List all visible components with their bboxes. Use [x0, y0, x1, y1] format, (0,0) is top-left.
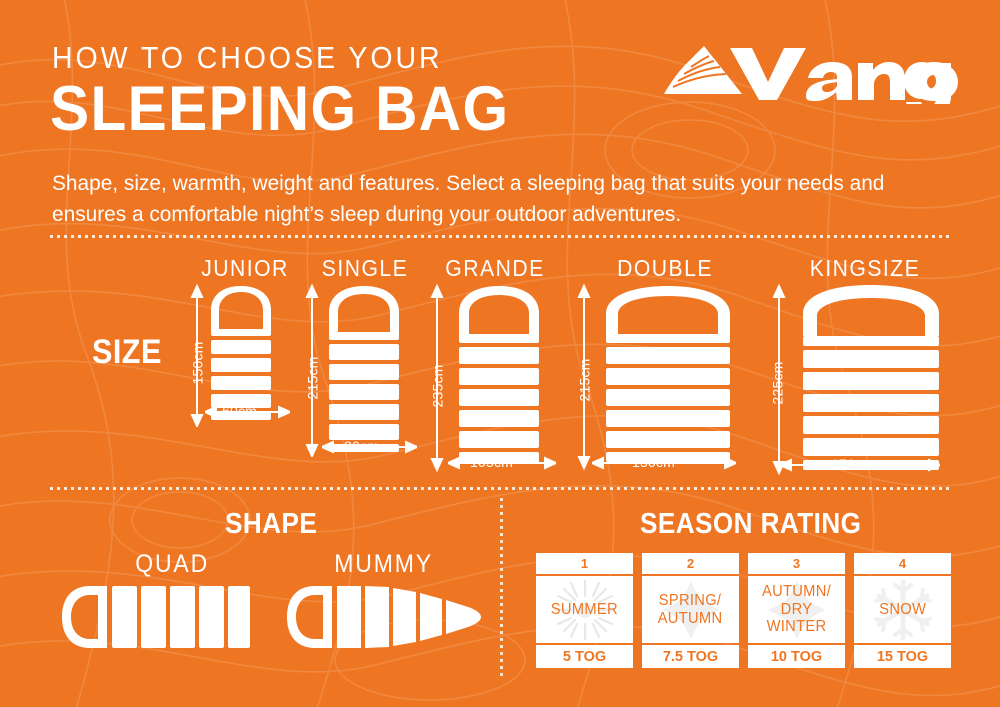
bag-height-junior: 150cm — [190, 341, 206, 384]
bag-height-single: 215cm — [305, 356, 321, 399]
divider-shape-season — [500, 498, 503, 676]
season-card-2-body: SPRING/ AUTUMN — [642, 576, 739, 643]
bag-width-single: 80cm — [344, 438, 379, 454]
season-card-3-number: 3 — [748, 553, 845, 574]
shape-diagram-quad — [60, 582, 250, 652]
season-card-4[interactable]: 4 — [854, 553, 951, 668]
season-card-2-number: 2 — [642, 553, 739, 574]
bag-title-double: DOUBLE — [601, 255, 730, 282]
season-card-3[interactable]: 3 AUTUMN/ DRY WINTER 10 TOG — [748, 553, 845, 668]
bag-title-junior: JUNIOR — [185, 255, 305, 282]
season-card-1-tog: 5 TOG — [536, 645, 633, 668]
bag-title-kingsize: KINGSIZE — [796, 255, 934, 282]
season-section-label: SEASON RATING — [640, 508, 861, 541]
season-card-3-body: AUTUMN/ DRY WINTER — [748, 576, 845, 643]
season-card-3-tog: 10 TOG — [748, 645, 845, 668]
divider-size-bottom — [50, 487, 950, 490]
bag-width-grande: 105cm — [470, 454, 513, 470]
season-card-1-label: SUMMER — [551, 601, 618, 619]
season-card-4-label: SNOW — [879, 601, 926, 619]
season-rating-table: 1 SUMMER 5 TOG — [536, 553, 951, 668]
page-title: SLEEPING BAG — [50, 78, 509, 141]
bag-width-kingsize: 170cm — [831, 456, 874, 472]
bag-title-single: SINGLE — [305, 255, 425, 282]
season-card-4-number: 4 — [854, 553, 951, 574]
season-card-4-tog: 15 TOG — [854, 645, 951, 668]
season-card-2-tog: 7.5 TOG — [642, 645, 739, 668]
season-card-1-number: 1 — [536, 553, 633, 574]
season-card-1-body: SUMMER — [536, 576, 633, 643]
season-card-2-label: SPRING/ AUTUMN — [658, 592, 723, 628]
page-kicker: HOW TO CHOOSE YOUR — [52, 40, 443, 76]
bag-diagram-kingsize — [765, 282, 960, 477]
size-section-label: SIZE — [92, 333, 162, 372]
season-card-1[interactable]: 1 SUMMER 5 TOG — [536, 553, 633, 668]
shape-section-label: SHAPE — [225, 508, 317, 541]
bag-height-grande: 235cm — [430, 364, 446, 407]
bag-title-grande: GRANDE — [435, 255, 555, 282]
bag-width-double: 150cm — [632, 454, 675, 470]
bag-height-kingsize: 225cm — [770, 361, 786, 404]
season-card-4-body: SNOW — [854, 576, 951, 643]
season-card-3-label: AUTUMN/ DRY WINTER — [752, 583, 840, 636]
bag-diagram-grande — [425, 282, 565, 472]
shape-title-quad: QUAD — [135, 550, 209, 579]
shape-diagram-mummy — [285, 582, 485, 652]
vango-logo — [660, 38, 960, 104]
page-subtitle: Shape, size, warmth, weight and features… — [52, 168, 915, 230]
bag-width-junior: 60cm — [222, 403, 257, 419]
bag-height-double: 215cm — [577, 358, 593, 401]
shape-title-mummy: MUMMY — [334, 550, 433, 579]
infographic-page: HOW TO CHOOSE YOUR SLEEPING BAG Shape, s… — [0, 0, 1000, 707]
season-card-2[interactable]: 2 SPRING/ AUTUMN 7.5 TOG — [642, 553, 739, 668]
divider-header-size — [50, 235, 950, 238]
bag-diagram-double — [570, 282, 750, 472]
